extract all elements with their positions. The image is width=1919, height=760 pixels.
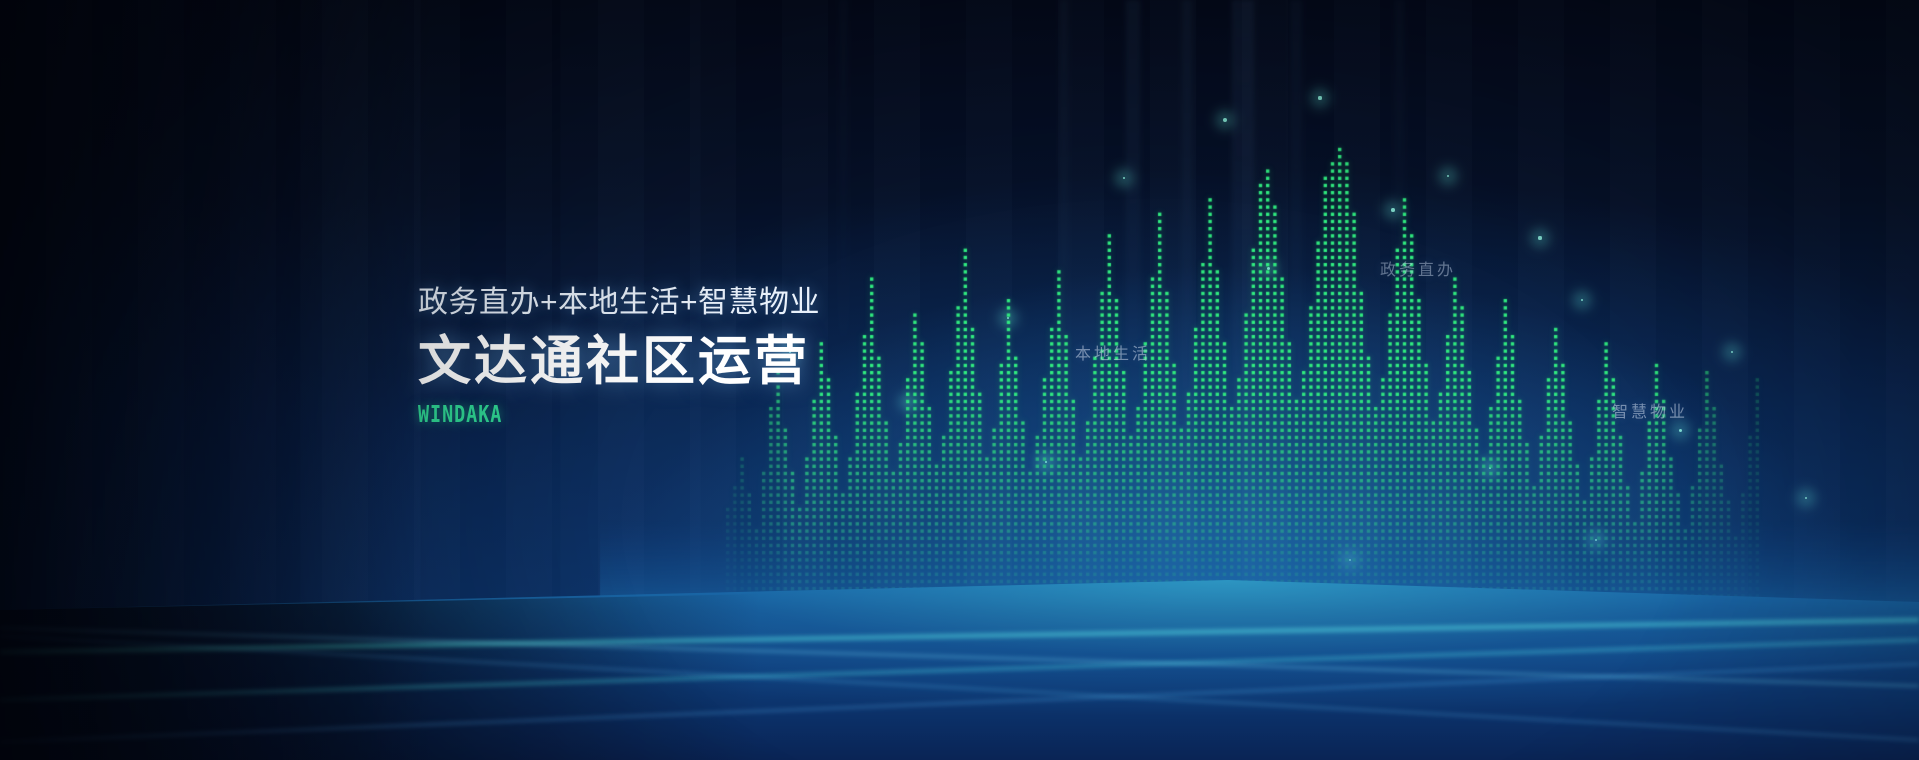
- floating-tag: 本地生活: [1075, 340, 1151, 364]
- brand-wordmark: WINDAKA: [418, 404, 740, 427]
- hero-banner: 本地生活政务直办智慧物业 政务直办+本地生活+智慧物业 文达通社区运营 WIND…: [0, 0, 1919, 760]
- banner-subtitle: 政务直办+本地生活+智慧物业: [418, 288, 820, 318]
- banner-headline: 文达通社区运营: [418, 335, 820, 388]
- copy-block: 政务直办+本地生活+智慧物业 文达通社区运营 WINDAKA: [418, 288, 820, 427]
- floating-tags: 本地生活政务直办智慧物业: [0, 0, 1919, 760]
- floating-tag: 智慧物业: [1612, 398, 1688, 422]
- floating-tag: 政务直办: [1380, 256, 1456, 280]
